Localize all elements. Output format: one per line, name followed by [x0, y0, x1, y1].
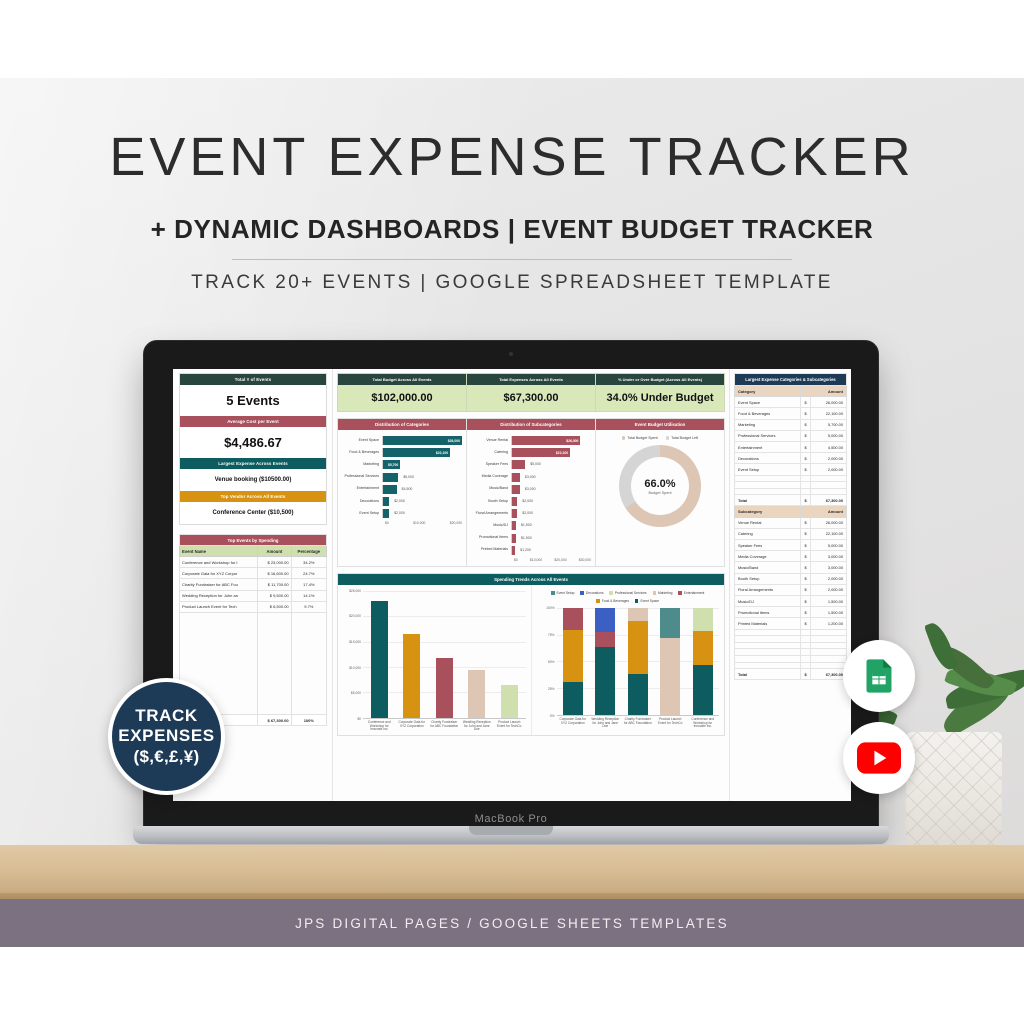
- x-axis-label: Wedding Reception for John and Jane Doe: [590, 718, 620, 729]
- bars: [557, 608, 720, 715]
- cell-currency: $: [801, 517, 810, 528]
- summary-card-total-budget: Total Budget Across All Events $102,000.…: [338, 374, 467, 411]
- table-total-row: Total$67,300.00: [735, 669, 847, 680]
- bar-label: Venue Rental: [471, 439, 511, 443]
- cell-amount: $ 16,600.00: [258, 568, 292, 579]
- kpi-card-total-events: Total # of Events 5 Events Average Cost …: [179, 373, 327, 525]
- chart-panel-budget-utilisation: Event Budget Utilisation Total Budget Sp…: [595, 418, 725, 567]
- bar-row: Event Space$26,000: [342, 436, 462, 445]
- bar-label: Music/DJ: [471, 524, 511, 528]
- stack-segment: [595, 632, 615, 647]
- bottom-margin: [0, 947, 1024, 1024]
- bar-track: $1,200: [511, 546, 591, 555]
- x-axis: Conference and Workshop for Innovate Inc…: [343, 721, 526, 732]
- bar-label: Professional Services: [342, 475, 382, 479]
- table-row: Event Setup$2,000.00: [735, 464, 847, 475]
- stack-segment: [628, 674, 648, 715]
- bar-label: Event Space: [342, 439, 382, 443]
- table-spacer-row: [735, 662, 847, 669]
- cell-currency: $: [801, 453, 810, 464]
- table-row: Floral Arrangements$2,000.00: [735, 584, 847, 595]
- table-row: Product Launch Event for Tech $ 6,500.00…: [180, 601, 327, 612]
- cell-currency: $: [801, 408, 810, 419]
- cell-percentage: 17.4%: [291, 579, 326, 590]
- cell-amount: $ 11,700.00: [258, 579, 292, 590]
- cell-percentage: 34.2%: [291, 556, 326, 567]
- bar-row: Entertainment$4,500: [342, 485, 462, 494]
- legend-swatch: [622, 436, 625, 439]
- stack-segment: [660, 608, 680, 638]
- bar: [512, 485, 520, 494]
- kpi-value: Conference Center ($10,500): [180, 502, 326, 524]
- bars: [363, 591, 526, 718]
- bar-track: $2,000: [511, 497, 591, 506]
- bar: [403, 634, 420, 718]
- cell-currency: $: [801, 669, 810, 680]
- table-header-row: SubcategoryAmount: [735, 506, 847, 517]
- cell-amount: 26,000.00: [810, 517, 846, 528]
- legend-item: Event Setup: [551, 591, 574, 595]
- legend-swatch: [580, 591, 583, 594]
- bar-row: Promotional Items$1,500: [471, 534, 591, 543]
- cell-event-name: Conference and Workshop for I: [180, 556, 258, 567]
- bar-value-label: $5,000: [403, 475, 414, 479]
- cell-subcategory: Printed Materials: [735, 618, 801, 629]
- cell-subcategory: Promotional Items: [735, 607, 801, 618]
- bar: $26,000: [512, 436, 580, 445]
- legend-label: Event Setup: [557, 591, 575, 595]
- cell-subcategory: Floral Arrangements: [735, 584, 801, 595]
- bar-row: Music/Band$3,000: [471, 485, 591, 494]
- cell-total-label: Total: [735, 495, 801, 506]
- legend-label: Decorations: [586, 591, 604, 595]
- cell-category: Marketing: [735, 419, 801, 430]
- stack-segment: [693, 608, 713, 632]
- y-axis: 0%25%50%75%100%: [537, 608, 557, 716]
- cell-event-name: Corporate Gala for XYZ Corpor: [180, 568, 258, 579]
- y-axis-tick: 75%: [548, 633, 555, 637]
- bar-row: Music/DJ$1,500: [471, 521, 591, 530]
- table-spacer-row: [735, 475, 847, 482]
- bar-value-label: $1,500: [521, 523, 532, 527]
- x-axis-label: Charity Fundraiser for ABC Foundation: [623, 718, 653, 729]
- legend-swatch: [551, 591, 554, 594]
- bar-value-label: $2,000: [394, 511, 405, 515]
- cell-currency: $: [801, 595, 810, 606]
- bar-label: Floral Arrangements: [471, 512, 511, 516]
- donut-wrapper: 66.0% Budget Spent: [600, 445, 720, 527]
- column-header-category: Category: [735, 386, 801, 397]
- table-row: Marketing$5,700.00: [735, 419, 847, 430]
- column-header-amount: Amount: [801, 506, 847, 517]
- cell-amount: 1,500.00: [810, 607, 846, 618]
- bar: $5,700: [383, 460, 400, 469]
- bar-row: Catering$22,100: [471, 448, 591, 457]
- bar-label: Decorations: [342, 500, 382, 504]
- table-row: Corporate Gala for XYZ Corpor $ 16,600.0…: [180, 568, 327, 579]
- cell-currency: $: [801, 607, 810, 618]
- bar-track: $22,100: [382, 448, 462, 457]
- bar-value-label: $2,000: [394, 499, 405, 503]
- stacked-bar: [628, 608, 648, 715]
- stacked-bar: [693, 608, 713, 715]
- cell-subcategory: Venue Rental: [735, 517, 801, 528]
- panel-title: Spending Trends Across All Events: [338, 574, 724, 585]
- y-axis-tick: $20,000: [349, 614, 361, 618]
- bar: [512, 534, 516, 543]
- x-axis: $0$10,000$20,000: [342, 521, 462, 525]
- bar-label: Food & Beverages: [342, 451, 382, 455]
- legend-label: Professional Services: [615, 591, 647, 595]
- bar-label: Media Coverage: [471, 475, 511, 479]
- legend-swatch: [635, 599, 638, 602]
- cell-currency: $: [801, 573, 810, 584]
- column-header-subcategory: Subcategory: [735, 506, 801, 517]
- bar-value-label: $1,200: [520, 548, 531, 552]
- table-row: Event Space$26,000.00: [735, 397, 847, 408]
- subcategories-chart: Venue Rental$26,000Catering$22,100Speake…: [467, 430, 595, 566]
- bar-track: $5,700: [382, 460, 462, 469]
- bar-row: Professional Services$5,000: [342, 473, 462, 482]
- table-total-row: Total$67,300.00: [735, 495, 847, 506]
- table-row: Speaker Fees$5,000.00: [735, 540, 847, 551]
- cell-percentage: 9.7%: [291, 601, 326, 612]
- donut-center: 66.0% Budget Spent: [644, 478, 675, 495]
- laptop-lid: Total # of Events 5 Events Average Cost …: [143, 340, 879, 832]
- cell-currency: $: [801, 464, 810, 475]
- table-header-row: Event Name Amount Percentage: [180, 546, 327, 557]
- table-row: Music/Band$3,000.00: [735, 562, 847, 573]
- bar-label: Marketing: [342, 463, 382, 467]
- axis-tick: $0: [385, 521, 389, 525]
- categories-chart: Event Space$26,000Food & Beverages$22,10…: [338, 430, 466, 529]
- table-title-row: Top Events by Spending: [180, 535, 327, 546]
- google-sheets-badge[interactable]: [843, 640, 915, 712]
- stacked-chart-wrapper: Event SetupDecorationsProfessional Servi…: [531, 585, 725, 735]
- cell-percentage: 14.1%: [291, 590, 326, 601]
- cell-amount: 2,000.00: [810, 573, 846, 584]
- bar-row: Event Setup$2,000: [342, 509, 462, 518]
- axis-tick: $30,000: [579, 558, 591, 562]
- axis-tick: $20,000: [554, 558, 566, 562]
- axis-tick: $10,000: [413, 521, 425, 525]
- cell-event-name: Product Launch Event for Tech: [180, 601, 258, 612]
- bar: [371, 601, 388, 718]
- legend-swatch: [678, 591, 681, 594]
- bar-track: $22,100: [511, 448, 591, 457]
- budget-utilisation-chart: Total Budget Spent Total Budget Left: [596, 430, 724, 531]
- table-spacer-row: [735, 629, 847, 636]
- cell-amount: 4,500.00: [810, 441, 846, 452]
- summary-card-budget-variance: % Under or Over Budget (Across All Event…: [596, 374, 724, 411]
- dashboard-sheet: Total # of Events 5 Events Average Cost …: [173, 369, 851, 801]
- table-row: Professional Services$5,000.00: [735, 430, 847, 441]
- cell-amount: 2,000.00: [810, 453, 846, 464]
- cell-amount: $ 23,000.00: [258, 556, 292, 567]
- stack-segment: [563, 682, 583, 715]
- panel-title: Distribution of Categories: [338, 419, 466, 430]
- cell-currency: $: [801, 495, 810, 506]
- kpi-header: Total # of Events: [180, 374, 326, 385]
- spending-trends-body: $0$5,000$10,000$15,000$20,000$25,000Conf…: [338, 585, 724, 735]
- table-row: Catering$22,100.00: [735, 528, 847, 539]
- bar-value-label: $3,000: [525, 487, 536, 491]
- stack-segment: [595, 647, 615, 714]
- plot-area: [557, 608, 720, 716]
- cell-amount: 5,000.00: [810, 540, 846, 551]
- y-axis-tick: $10,000: [349, 666, 361, 670]
- donut-caption: Budget Spent: [644, 491, 675, 495]
- bar-row: Floral Arrangements$2,000: [471, 509, 591, 518]
- dashboard-main-column: Total Budget Across All Events $102,000.…: [333, 369, 729, 801]
- bar-row: Booth Setup$2,000: [471, 497, 591, 506]
- y-axis-tick: 0%: [550, 714, 555, 718]
- cell-subcategory: Speaker Fees: [735, 540, 801, 551]
- stack-segment: [628, 608, 648, 621]
- cell-category: Event Setup: [735, 464, 801, 475]
- donut-legend: Total Budget Spent Total Budget Left: [600, 436, 720, 440]
- legend-label: Total Budget Spent: [627, 436, 657, 440]
- laptop-notch: [469, 826, 553, 835]
- bar: $22,100: [383, 448, 450, 457]
- cell-currency: $: [801, 551, 810, 562]
- legend-label: Food & Beverages: [602, 599, 629, 603]
- bar-row: Speaker Fees$5,000: [471, 460, 591, 469]
- youtube-badge[interactable]: [843, 722, 915, 794]
- bar: [383, 485, 397, 494]
- poster-title: EVENT EXPENSE TRACKER: [0, 130, 1024, 184]
- legend-item-budget-spent: Total Budget Spent: [622, 436, 658, 440]
- cell-amount: 3,000.00: [810, 551, 846, 562]
- axis-tick: $20,000: [450, 521, 462, 525]
- stacked-bar: [563, 608, 583, 715]
- summary-value: 34.0% Under Budget: [596, 385, 724, 411]
- cell-amount: 1,500.00: [810, 595, 846, 606]
- x-axis-label: Charity Fundraiser for ABC Foundation: [429, 721, 459, 732]
- laptop-bezel: [144, 341, 878, 367]
- cell-total-amount: 67,300.00: [810, 495, 846, 506]
- bar-track: $2,000: [382, 509, 462, 518]
- table-row: Conference and Workshop for I $ 23,000.0…: [180, 556, 327, 567]
- y-axis-tick: $5,000: [351, 691, 361, 695]
- legend-swatch: [609, 591, 612, 594]
- column-header-event-name: Event Name: [180, 546, 258, 557]
- cell-amount: 5,000.00: [810, 430, 846, 441]
- legend-item-budget-left: Total Budget Left: [666, 436, 698, 440]
- cell-currency: $: [801, 397, 810, 408]
- bar: [501, 685, 518, 718]
- bar-row: Decorations$2,000: [342, 497, 462, 506]
- column-header-percentage: Percentage: [291, 546, 326, 557]
- bar: [383, 473, 398, 482]
- cell-category: Food & Beverages: [735, 408, 801, 419]
- cell-category: Decorations: [735, 453, 801, 464]
- legend-swatch: [666, 436, 669, 439]
- bar: $22,100: [512, 448, 570, 457]
- y-axis: $0$5,000$10,000$15,000$20,000$25,000: [343, 591, 363, 719]
- cell-subcategory: Media Coverage: [735, 551, 801, 562]
- axis-tick: $0: [514, 558, 518, 562]
- bar-value-label: $2,000: [522, 511, 533, 515]
- laptop-screen: Total # of Events 5 Events Average Cost …: [173, 369, 851, 801]
- legend-item: Decorations: [580, 591, 603, 595]
- dashboard-right-column: Largest Expense Categories & Subcategori…: [729, 369, 851, 801]
- legend-item: Professional Services: [609, 591, 646, 595]
- bar-track: $1,500: [511, 521, 591, 530]
- table-row: Decorations$2,000.00: [735, 453, 847, 464]
- cell-total-amount: 67,300.00: [810, 669, 846, 680]
- largest-expense-tables: Largest Expense Categories & Subcategori…: [734, 373, 847, 680]
- stacked-bar: [660, 608, 680, 715]
- table-row: Media Coverage$3,000.00: [735, 551, 847, 562]
- cell-currency: $: [801, 584, 810, 595]
- cell-amount: 3,000.00: [810, 562, 846, 573]
- cell-amount: 5,700.00: [810, 419, 846, 430]
- bar-value-label: $2,000: [522, 499, 533, 503]
- cell-currency: $: [801, 441, 810, 452]
- table-spacer-row: [735, 642, 847, 649]
- cell-currency: $: [801, 618, 810, 629]
- legend-item: Entertainment: [678, 591, 704, 595]
- x-axis-label: Conference and Workshop for Innovate Inc…: [688, 718, 718, 729]
- stack-segment: [628, 621, 648, 675]
- x-axis-label: Product Launch Event for TechCo: [494, 721, 524, 732]
- bar-label: Catering: [471, 451, 511, 455]
- bar-label: Printed Materials: [471, 548, 511, 552]
- bar-label: Booth Setup: [471, 500, 511, 504]
- table-header-row: CategoryAmount: [735, 386, 847, 397]
- cell-total-amount: $ 67,300.00: [258, 714, 292, 725]
- chart-panel-categories: Distribution of Categories Event Space$2…: [337, 418, 466, 567]
- bar: [512, 546, 515, 555]
- bar-row: Food & Beverages$22,100: [342, 448, 462, 457]
- table-row: Booth Setup$2,000.00: [735, 573, 847, 584]
- bar-row: Venue Rental$26,000: [471, 436, 591, 445]
- summary-card-total-expenses: Total Expenses Across All Events $67,300…: [467, 374, 596, 411]
- bar-track: $2,000: [382, 497, 462, 506]
- bar-track: $2,000: [511, 509, 591, 518]
- x-axis-label: Corporate Gala for XYZ Corporation: [397, 721, 427, 732]
- y-axis-tick: 25%: [548, 687, 555, 691]
- stack-segment: [595, 608, 615, 633]
- stacked-chart: 0%25%50%75%100%: [537, 608, 720, 716]
- column-header-amount: Amount: [258, 546, 292, 557]
- summary-header: Total Expenses Across All Events: [467, 374, 595, 385]
- bar-row: Media Coverage$3,000: [471, 473, 591, 482]
- cell-amount: 22,100.00: [810, 408, 846, 419]
- table-spacer-row: [735, 655, 847, 662]
- cell-amount: 2,000.00: [810, 584, 846, 595]
- summary-value: $102,000.00: [338, 385, 466, 411]
- bar-row: Marketing$5,700: [342, 460, 462, 469]
- chart-panel-subcategories: Distribution of Subcategories Venue Rent…: [466, 418, 595, 567]
- bar-track: $3,000: [511, 485, 591, 494]
- stack-segment: [563, 630, 583, 681]
- stacked-bar: [595, 608, 615, 715]
- panel-title: Distribution of Subcategories: [467, 419, 595, 430]
- bar-row: Printed Materials$1,200: [471, 546, 591, 555]
- stacked-legend: Event SetupDecorationsProfessional Servi…: [537, 591, 720, 603]
- cell-event-name: Wedding Reception for John an: [180, 590, 258, 601]
- right-panel-title-row: Largest Expense Categories & Subcategori…: [735, 374, 847, 386]
- y-axis-tick: 100%: [546, 606, 554, 610]
- panel-title: Event Budget Utilisation: [596, 419, 724, 430]
- x-axis-label: Product Launch Event for TechCo: [655, 718, 685, 729]
- summary-header: % Under or Over Budget (Across All Event…: [596, 374, 724, 385]
- cell-category: Event Space: [735, 397, 801, 408]
- table-row: Wedding Reception for John an $ 9,500.00…: [180, 590, 327, 601]
- table-row: Entertainment$4,500.00: [735, 441, 847, 452]
- cell-subcategory: Music/Band: [735, 562, 801, 573]
- kpi-header: Largest Expense Across Events: [180, 458, 326, 469]
- cell-amount: 22,100.00: [810, 528, 846, 539]
- stack-segment: [563, 608, 583, 630]
- poster-headings: EVENT EXPENSE TRACKER + DYNAMIC DASHBOAR…: [0, 130, 1024, 294]
- bar: [512, 521, 516, 530]
- bar-track: $1,500: [511, 534, 591, 543]
- y-axis-tick: $25,000: [349, 589, 361, 593]
- cell-category: Professional Services: [735, 430, 801, 441]
- legend-item: Event Space: [635, 599, 659, 603]
- x-axis-label: Wedding Reception for John and Jane Doe: [462, 721, 492, 732]
- cell-subcategory: Booth Setup: [735, 573, 801, 584]
- bar-label: Speaker Fees: [471, 463, 511, 467]
- footer-text: JPS DIGITAL PAGES / GOOGLE SHEETS TEMPLA…: [295, 916, 729, 931]
- axis-tick: $10,000: [530, 558, 542, 562]
- table-spacer-row: [735, 488, 847, 495]
- legend-item: Marketing: [653, 591, 673, 595]
- table-title: Top Events by Spending: [180, 535, 327, 546]
- summary-value: $67,300.00: [467, 385, 595, 411]
- donut-ring: 66.0% Budget Spent: [619, 445, 701, 527]
- table-spacer-row: [735, 636, 847, 643]
- bar-value-label: $3,000: [525, 475, 536, 479]
- macbook-label: MacBook Pro: [144, 813, 878, 825]
- x-axis-label: Conference and Workshop for Innovate Inc…: [364, 721, 394, 732]
- legend-swatch: [596, 599, 599, 602]
- stack-segment: [693, 631, 713, 664]
- cell-amount: $ 9,500.00: [258, 590, 292, 601]
- column-chart-wrapper: $0$5,000$10,000$15,000$20,000$25,000Conf…: [338, 585, 531, 735]
- bar-label: Music/Band: [471, 487, 511, 491]
- cell-currency: $: [801, 430, 810, 441]
- desk-surface: [0, 845, 1024, 900]
- donut-percent: 66.0%: [644, 478, 675, 490]
- cell-amount: 1,200.00: [810, 618, 846, 629]
- legend-label: Event Space: [640, 599, 659, 603]
- table-row: Venue Rental$26,000.00: [735, 517, 847, 528]
- kpi-header: Top Vendor Across All Events: [180, 491, 326, 502]
- cell-currency: $: [801, 540, 810, 551]
- poster-subtitle: + DYNAMIC DASHBOARDS | EVENT BUDGET TRAC…: [0, 214, 1024, 245]
- bar: [436, 658, 453, 717]
- table-row: Charity Fundraiser for ABC Fou $ 11,700.…: [180, 579, 327, 590]
- summary-kpi-strip: Total Budget Across All Events $102,000.…: [337, 373, 725, 412]
- poster-tagline: TRACK 20+ EVENTS | GOOGLE SPREADSHEET TE…: [0, 272, 1024, 294]
- right-panel-title: Largest Expense Categories & Subcategori…: [735, 374, 847, 386]
- bar: [383, 497, 389, 506]
- cell-total-label: Total: [735, 669, 801, 680]
- cell-percentage: 24.7%: [291, 568, 326, 579]
- cell-amount: $ 6,500.00: [258, 601, 292, 612]
- bar-track: $26,000: [382, 436, 462, 445]
- bar-label: Promotional Items: [471, 536, 511, 540]
- bar: [512, 473, 520, 482]
- bar: [468, 670, 485, 718]
- bar-track: $26,000: [511, 436, 591, 445]
- bar: [512, 497, 517, 506]
- kpi-value: $4,486.67: [180, 427, 326, 458]
